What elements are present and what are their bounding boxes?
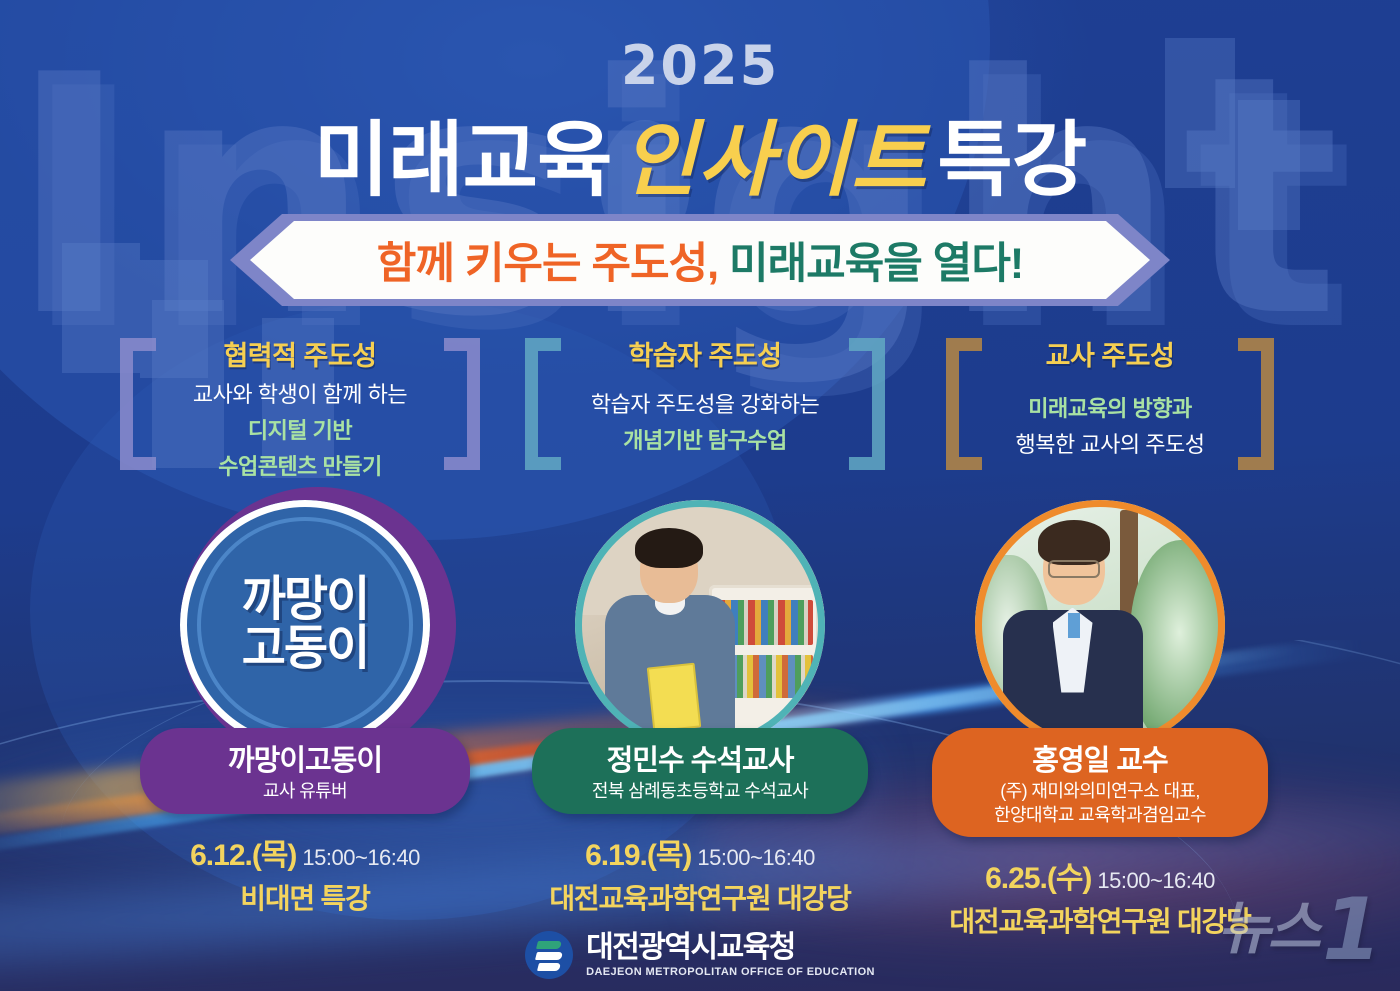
poster-year: 2025 — [0, 34, 1400, 97]
organization-name-kr: 대전광역시교육청 — [586, 933, 875, 963]
theme-line-2: 개념기반 탐구수업 — [623, 423, 787, 455]
avatar — [975, 500, 1225, 750]
bracket-left-icon — [525, 338, 561, 470]
speaker-list: 까망이 고동이 까망이고동이 교사 유튜버 6.12.(목)15:00~16:4… — [0, 500, 1400, 920]
session-date: 6.12.(목) — [190, 839, 296, 872]
subtitle-text: 함께 키우는 주도성, 미래교육을 열다! — [377, 229, 1023, 291]
speaker-name: 홍영일 교수 — [1032, 737, 1167, 779]
avatar-ring — [575, 500, 825, 750]
theme-title: 협력적 주도성 — [223, 334, 376, 373]
theme-column-learner: 학습자 주도성 학습자 주도성을 강화하는 개념기반 탐구수업 — [515, 332, 895, 482]
speaker-card[interactable]: 까망이 고동이 까망이고동이 교사 유튜버 6.12.(목)15:00~16:4… — [105, 500, 505, 917]
channel-logo-line-1: 까망이 — [242, 576, 368, 625]
daejeon-education-logo-icon — [525, 931, 573, 979]
avatar — [575, 500, 825, 750]
channel-logo-line-2: 고동이 — [242, 625, 368, 674]
speaker-name-pill: 까망이고동이 교사 유튜버 — [140, 728, 470, 814]
bracket-right-icon — [444, 338, 480, 470]
session-time: 15:00~16:40 — [1097, 868, 1214, 893]
subtitle-banner: 함께 키우는 주도성, 미래교육을 열다! — [230, 214, 1170, 306]
speaker-role-1: 교사 유튜버 — [263, 781, 347, 803]
session-time: 15:00~16:40 — [302, 845, 419, 870]
speaker-name: 까망이고동이 — [228, 737, 382, 779]
theme-column-collaborative: 협력적 주도성 교사와 학생이 함께 하는 디지털 기반 수업콘텐츠 만들기 — [110, 332, 490, 482]
session-time: 15:00~16:40 — [697, 845, 814, 870]
news1-watermark: 뉴스 1 — [1217, 881, 1382, 965]
footer-organization: 대전광역시교육청 DAEJEON METROPOLITAN OFFICE OF … — [0, 931, 1400, 979]
theme-line-3: 수업콘텐츠 만들기 — [218, 449, 382, 481]
speaker-card[interactable]: 홍영일 교수 (주) 재미와의미연구소 대표, 한양대학교 교육학과겸임교수 6… — [900, 500, 1300, 940]
bracket-left-icon — [120, 338, 156, 470]
channel-logo-text: 까망이 고동이 — [242, 576, 368, 674]
news1-watermark-kr: 뉴스 — [1217, 881, 1318, 965]
avatar-ring — [975, 500, 1225, 750]
bracket-left-icon — [946, 338, 982, 470]
speaker-name-pill: 홍영일 교수 (주) 재미와의미연구소 대표, 한양대학교 교육학과겸임교수 — [932, 728, 1268, 837]
title-part-right: 특강 — [937, 115, 1086, 206]
theme-line-2: 미래교육의 방향과 — [1028, 391, 1192, 423]
speaker-schedule: 6.19.(목)15:00~16:40 대전교육과학연구원 대강당 — [500, 830, 900, 917]
theme-title: 교사 주도성 — [1046, 334, 1175, 373]
avatar: 까망이 고동이 — [180, 500, 430, 750]
session-venue: 비대면 특강 — [105, 877, 505, 917]
title-part-left: 미래교육 — [314, 115, 612, 206]
speaker-role-1: 전북 삼례동초등학교 수석교사 — [592, 781, 808, 803]
news1-watermark-one: 1 — [1322, 896, 1382, 965]
session-venue: 대전교육과학연구원 대강당 — [500, 877, 900, 917]
theme-line-3: 행복한 교사의 주도성 — [1016, 427, 1205, 459]
theme-column-teacher: 교사 주도성 미래교육의 방향과 행복한 교사의 주도성 — [920, 332, 1300, 482]
speaker-card[interactable]: 정민수 수석교사 전북 삼례동초등학교 수석교사 6.19.(목)15:00~1… — [500, 500, 900, 917]
session-date: 6.25.(수) — [985, 862, 1091, 895]
poster-title: 미래교육인사이트특강 — [0, 93, 1400, 212]
poster-canvas: Insight Insight 2025 미래교육인사이트특강 함께 키우는 주… — [0, 0, 1400, 991]
theme-line-1: 학습자 주도성을 강화하는 — [591, 387, 819, 419]
subtitle-orange-part: 함께 키우는 주도성, — [377, 240, 718, 288]
organization-name-en: DAEJEON METROPOLITAN OFFICE OF EDUCATION — [586, 966, 875, 978]
theme-line-1: 교사와 학생이 함께 하는 — [193, 377, 407, 409]
theme-title: 학습자 주도성 — [628, 334, 781, 373]
bracket-right-icon — [1238, 338, 1274, 470]
subtitle-banner-inner: 함께 키우는 주도성, 미래교육을 열다! — [250, 221, 1150, 299]
session-date: 6.19.(목) — [585, 839, 691, 872]
bracket-right-icon — [849, 338, 885, 470]
title-part-accent: 인사이트 — [622, 115, 928, 206]
organization-name-block: 대전광역시교육청 DAEJEON METROPOLITAN OFFICE OF … — [586, 933, 875, 978]
subtitle-green-part: 미래교육을 열다! — [729, 240, 1023, 288]
speaker-name: 정민수 수석교사 — [607, 737, 794, 779]
theme-line-2: 디지털 기반 — [248, 413, 352, 445]
theme-columns: 협력적 주도성 교사와 학생이 함께 하는 디지털 기반 수업콘텐츠 만들기 학… — [110, 332, 1300, 482]
speaker-role-2: 한양대학교 교육학과겸임교수 — [994, 805, 1206, 827]
speaker-role-1: (주) 재미와의미연구소 대표, — [1000, 781, 1200, 803]
speaker-schedule: 6.12.(목)15:00~16:40 비대면 특강 — [105, 830, 505, 917]
speaker-name-pill: 정민수 수석교사 전북 삼례동초등학교 수석교사 — [532, 728, 868, 814]
